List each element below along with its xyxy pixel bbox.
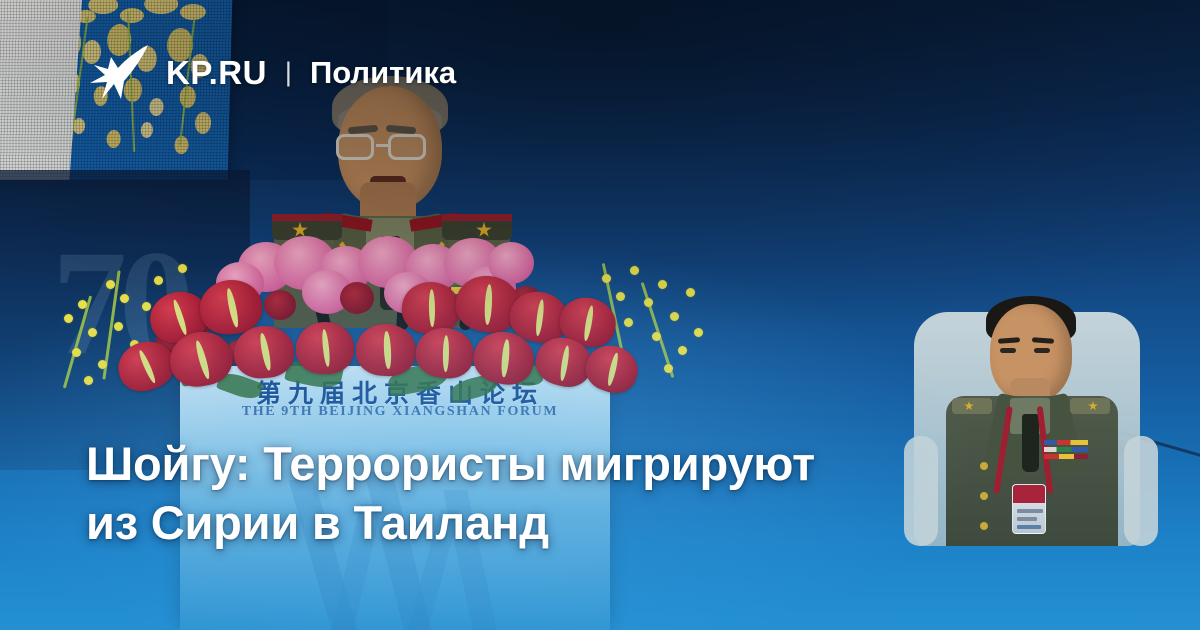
brand-separator: | [285,59,292,86]
rubric-label[interactable]: Политика [310,57,456,88]
led-panel-white-section [0,0,83,180]
official-medal-ribbons [1044,440,1088,464]
forum-sign-english: THE 9TH BEIJING XIANGSHAN FORUM [214,404,586,420]
speaker-eyeglasses [336,134,374,160]
brand-name: KP.RU [166,56,267,89]
swallow-bird-icon [88,43,150,101]
floral-arrangement [58,236,698,406]
headline-line-1: Шойгу: Террористы мигрируют [86,434,1046,493]
headline-line-2: из Сирии в Таиланд [86,493,1046,552]
brand-bar[interactable]: KP.RU | Политика [88,44,456,100]
page-title: Шойгу: Террористы мигрируют из Сирии в Т… [86,434,1046,552]
article-cover-image: 70 第九届北京香山论坛 THE 9TH BEIJING XIANGSHAN F… [0,0,1200,630]
